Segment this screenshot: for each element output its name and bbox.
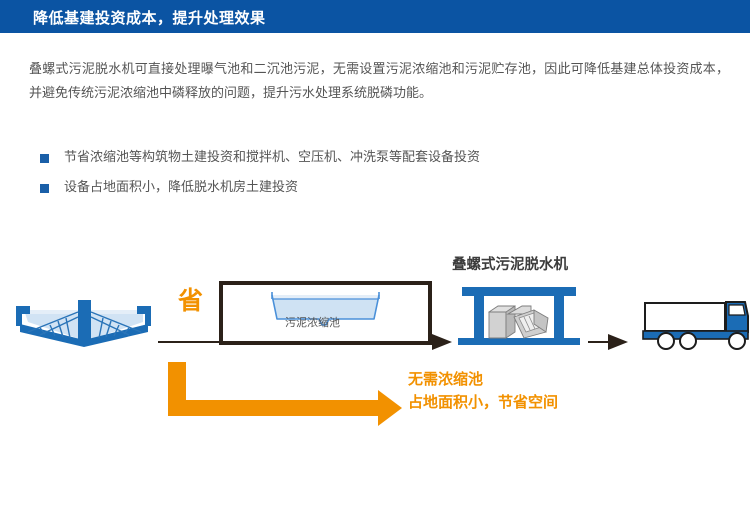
square-bullet-icon xyxy=(40,184,49,193)
screw-press-unit-icon xyxy=(458,287,580,345)
flow-arrow-secondary xyxy=(588,334,628,350)
benefits-list: 节省浓缩池等构筑物土建投资和搅拌机、空压机、冲洗泵等配套设备投资 设备占地面积小… xyxy=(40,143,690,203)
intro-paragraph: 叠螺式污泥脱水机可直接处理曝气池和二沉池污泥，无需设置污泥浓缩池和污泥贮存池，因… xyxy=(29,58,729,106)
dewatering-unit-title: 叠螺式污泥脱水机 xyxy=(452,258,568,273)
list-item-label: 设备占地面积小，降低脱水机房土建投资 xyxy=(64,179,298,197)
orange-callout-text: 无需浓缩池 占地面积小，节省空间 xyxy=(408,368,558,414)
square-bullet-icon xyxy=(40,154,49,163)
list-item: 设备占地面积小，降低脱水机房土建投资 xyxy=(40,173,690,203)
save-label: 省 xyxy=(178,288,203,313)
list-item-label: 节省浓缩池等构筑物土建投资和搅拌机、空压机、冲洗泵等配套设备投资 xyxy=(64,149,480,167)
page-header-bar: 降低基建投资成本，提升处理效果 xyxy=(0,0,750,33)
clarifier-tank-icon xyxy=(16,300,151,347)
thickener-box xyxy=(221,283,430,343)
list-item: 节省浓缩池等构筑物土建投资和搅拌机、空压机、冲洗泵等配套设备投资 xyxy=(40,143,690,173)
orange-elbow-arrow xyxy=(168,362,402,426)
screw-press-machine-icon xyxy=(489,306,548,338)
orange-callout-line-2: 占地面积小，节省空间 xyxy=(408,391,558,414)
orange-callout-line-1: 无需浓缩池 xyxy=(408,368,558,391)
page-title: 降低基建投资成本，提升处理效果 xyxy=(33,7,266,28)
truck-icon xyxy=(643,302,748,349)
thickener-caption: 污泥浓缩池 xyxy=(285,317,340,328)
process-flow-diagram xyxy=(0,240,750,440)
